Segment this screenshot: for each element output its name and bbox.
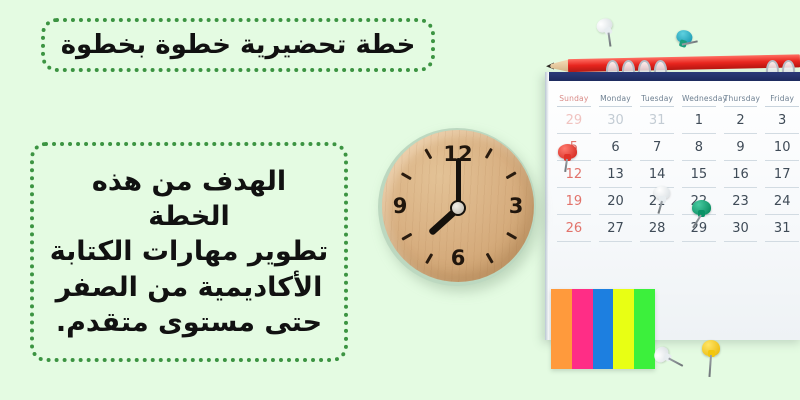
clock-face: 12 3 6 9 [382, 130, 534, 282]
sticky-tab-blue[interactable] [593, 289, 614, 369]
calendar-header-thursday: Thursday [724, 94, 758, 107]
calendar-day[interactable]: 30 [599, 107, 633, 134]
title-card: خطة تحضيرية خطوة بخطوة [41, 18, 435, 72]
calendar-header-friday: Friday [765, 94, 799, 107]
calendar-header-wednesday: Wednesday [682, 94, 716, 107]
description-line: الهدف من هذه الخطة [48, 164, 330, 234]
calendar-day[interactable]: 17 [765, 161, 799, 188]
calendar-day[interactable]: 20 [599, 188, 633, 215]
description-card: الهدف من هذه الخطة تطوير مهارات الكتابة … [30, 142, 348, 362]
description-line: تطوير مهارات الكتابة [48, 234, 330, 269]
calendar-day[interactable]: 14 [640, 161, 674, 188]
sticky-tab-pink[interactable] [572, 289, 593, 369]
calendar-day[interactable]: 1 [682, 107, 716, 134]
calendar-day[interactable]: 27 [599, 215, 633, 242]
calendar-day[interactable]: 7 [640, 134, 674, 161]
pushpin-white-icon [591, 14, 622, 46]
calendar-day[interactable]: 31 [765, 215, 799, 242]
calendar-day[interactable]: 19 [557, 188, 591, 215]
sticky-tab-orange[interactable] [551, 289, 572, 369]
page-title: خطة تحضيرية خطوة بخطوة [61, 32, 416, 58]
calendar-week-row: 29 30 31 1 2 3 [553, 107, 800, 134]
calendar-day[interactable]: 3 [765, 107, 799, 134]
calendar-day[interactable]: 24 [765, 188, 799, 215]
description-line: الأكاديمية من الصفر [48, 270, 330, 305]
clock-center-cap [450, 200, 466, 216]
calendar-day[interactable]: 8 [682, 134, 716, 161]
description-line: حتى مستوى متقدم. [48, 305, 330, 340]
sticky-tab-yellow[interactable] [613, 289, 634, 369]
sticky-index-tabs[interactable] [551, 289, 655, 369]
calendar-header-sunday: Sunday [557, 94, 591, 107]
calendar-week-row: 12 13 14 15 16 17 [553, 161, 800, 188]
wooden-clock: 12 3 6 9 [378, 128, 544, 294]
pushpin-red-icon [556, 144, 578, 168]
calendar-header-tuesday: Tuesday [640, 94, 674, 107]
calendar-day[interactable]: 9 [724, 134, 758, 161]
calendar-header-row: Sunday Monday Tuesday Wednesday Thursday… [553, 94, 800, 107]
calendar-header-monday: Monday [599, 94, 633, 107]
calendar-day[interactable]: 10 [765, 134, 799, 161]
clock-numeral-6: 6 [443, 246, 473, 270]
calendar-day[interactable]: 29 [557, 107, 591, 134]
calendar-day[interactable]: 16 [724, 161, 758, 188]
calendar-day[interactable]: 28 [640, 215, 674, 242]
calendar-day[interactable]: 2 [724, 107, 758, 134]
description-text: الهدف من هذه الخطة تطوير مهارات الكتابة … [48, 164, 330, 339]
calendar-day[interactable]: 6 [599, 134, 633, 161]
poster-canvas: Sunday Monday Tuesday Wednesday Thursday… [0, 0, 800, 400]
clock-numeral-9: 9 [385, 194, 415, 218]
calendar-day[interactable]: 23 [724, 188, 758, 215]
calendar-top-bar [545, 72, 800, 81]
calendar-day[interactable]: 13 [599, 161, 633, 188]
pushpin-green-icon [690, 200, 712, 224]
calendar-day[interactable]: 26 [557, 215, 591, 242]
calendar-day[interactable]: 31 [640, 107, 674, 134]
calendar-day[interactable]: 30 [724, 215, 758, 242]
pushpin-yellow-icon [700, 340, 722, 364]
pushpin-white-icon [651, 186, 673, 210]
pushpin-teal-icon [669, 27, 697, 56]
calendar-left-edge [545, 72, 549, 340]
clock-numeral-3: 3 [501, 194, 531, 218]
calendar-day[interactable]: 15 [682, 161, 716, 188]
calendar-week-row: 26 27 28 29 30 31 [553, 215, 800, 242]
calendar-week-row: 5 6 7 8 9 10 [553, 134, 800, 161]
calendar-week-row: 19 20 21 22 23 24 [553, 188, 800, 215]
